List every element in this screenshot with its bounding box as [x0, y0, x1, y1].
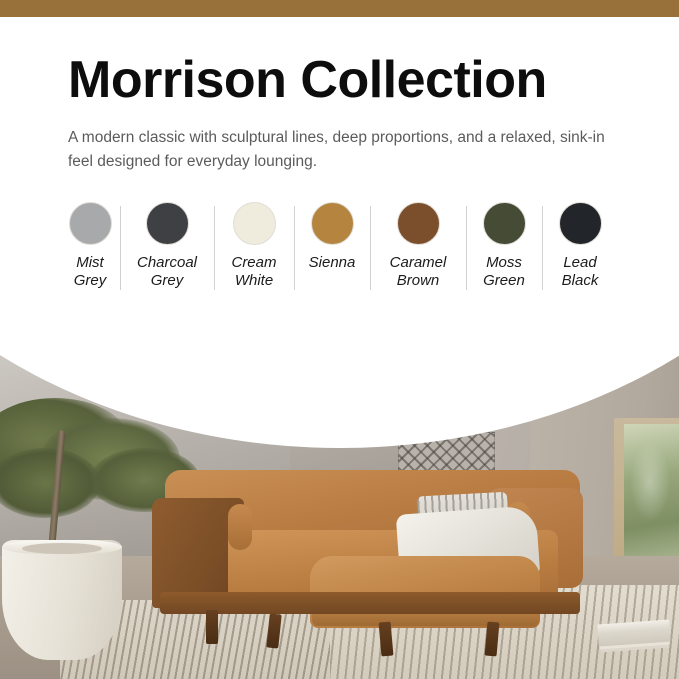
swatch-dot[interactable]: [483, 202, 526, 245]
color-swatch-charcoal-grey[interactable]: Charcoal Grey: [120, 202, 214, 289]
color-swatch-moss-green[interactable]: Moss Green: [466, 202, 542, 289]
color-swatch-lead-black[interactable]: Lead Black: [542, 202, 618, 289]
planter-pot: [2, 540, 122, 660]
window-glass: [624, 424, 679, 576]
swatch-dot[interactable]: [311, 202, 354, 245]
swatch-label: Moss Green: [483, 254, 525, 289]
color-swatch-caramel-brown[interactable]: Caramel Brown: [370, 202, 466, 289]
swatch-label: Sienna: [309, 254, 356, 272]
page-subtitle: A modern classic with sculptural lines, …: [68, 126, 628, 174]
product-banner: Morrison Collection A modern classic wit…: [0, 0, 679, 679]
color-swatch-mist-grey[interactable]: Mist Grey: [60, 202, 120, 289]
header-content: Morrison Collection A modern classic wit…: [0, 0, 679, 300]
color-swatch-sienna[interactable]: Sienna: [294, 202, 370, 289]
swatch-dot[interactable]: [233, 202, 276, 245]
color-swatch-list: Mist GreyCharcoal GreyCream WhiteSiennaC…: [60, 202, 630, 289]
bolster-pillow-left: [228, 504, 252, 550]
sofa-base: [160, 592, 580, 614]
swatch-dot[interactable]: [397, 202, 440, 245]
swatch-dot[interactable]: [146, 202, 189, 245]
page-title: Morrison Collection: [68, 54, 547, 106]
swatch-label: Cream White: [231, 254, 276, 289]
planter-soil: [22, 543, 102, 554]
swatch-dot[interactable]: [69, 202, 112, 245]
swatch-label: Lead Black: [562, 254, 599, 289]
swatch-label: Caramel Brown: [390, 254, 447, 289]
color-swatch-cream-white[interactable]: Cream White: [214, 202, 294, 289]
sofa-leg: [206, 610, 218, 644]
swatch-dot[interactable]: [559, 202, 602, 245]
swatch-label: Mist Grey: [74, 254, 107, 289]
swatch-label: Charcoal Grey: [137, 254, 197, 289]
